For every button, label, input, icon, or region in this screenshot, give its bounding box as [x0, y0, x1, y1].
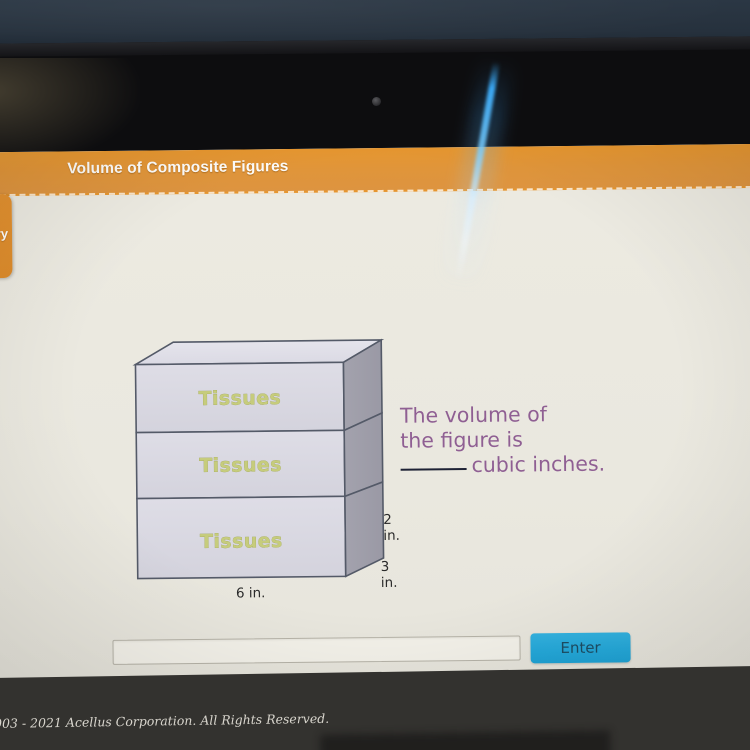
box-3-label: Tissues [200, 530, 283, 553]
webcam-icon [372, 97, 381, 106]
screen-content: Volume of Composite Figures ry [0, 144, 750, 682]
footer-strip: 003 - 2021 Acellus Corporation. All Righ… [0, 666, 750, 750]
box-1-label: Tissues [198, 387, 281, 410]
answer-blank-rule [401, 468, 467, 471]
composite-figure-diagram: Tissues Tissues Tissues 2 in. 3 in. 6 in… [131, 334, 404, 597]
question-line-1: The volume of [400, 401, 630, 428]
answer-input[interactable] [112, 635, 520, 664]
question-line-2: the figure is [400, 426, 630, 453]
question-line-3: cubic inches. [471, 452, 605, 477]
header-bar: Volume of Composite Figures [0, 144, 750, 196]
answer-row: Enter [112, 632, 632, 669]
box-2-label: Tissues [199, 454, 282, 477]
box-3-side-face [345, 482, 384, 576]
sidebar-tab-label: ry [0, 226, 8, 241]
lesson-page: Tissues Tissues Tissues 2 in. 3 in. 6 in… [0, 188, 750, 682]
dimension-label-width: 6 in. [236, 585, 266, 601]
photo-of-screen: Volume of Composite Figures ry [0, 0, 750, 750]
question-line-3-wrapper: cubic inches. [400, 451, 630, 478]
enter-button[interactable]: Enter [530, 632, 630, 663]
footer-copyright: 003 - 2021 Acellus Corporation. All Righ… [0, 711, 329, 731]
footer-shadow [320, 730, 611, 750]
page-title: Volume of Composite Figures [67, 158, 288, 178]
sidebar-tab[interactable]: ry [0, 194, 13, 279]
dimension-label-depth: 3 in. [381, 559, 404, 591]
question-text: The volume of the figure is cubic inches… [400, 401, 631, 478]
dimension-label-height: 2 in. [383, 512, 403, 544]
